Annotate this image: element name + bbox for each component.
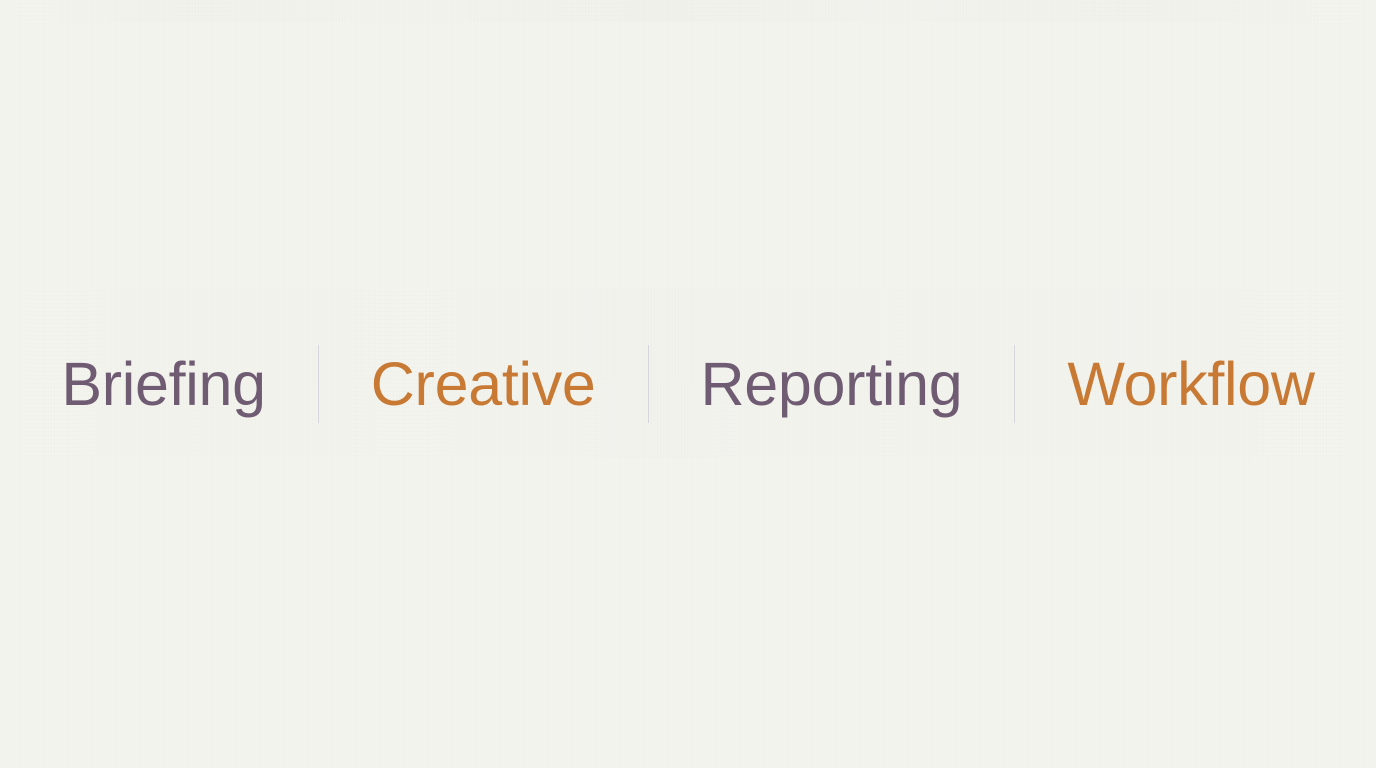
- background-ghost-band-top: [0, 0, 1376, 22]
- nav-item-creative[interactable]: Creative: [319, 354, 648, 415]
- page-canvas: Briefing Creative Reporting Workflow: [0, 0, 1376, 768]
- primary-nav: Briefing Creative Reporting Workflow: [61, 345, 1314, 423]
- nav-item-workflow[interactable]: Workflow: [1015, 354, 1314, 415]
- nav-item-briefing[interactable]: Briefing: [61, 354, 317, 415]
- nav-item-reporting[interactable]: Reporting: [649, 354, 1015, 415]
